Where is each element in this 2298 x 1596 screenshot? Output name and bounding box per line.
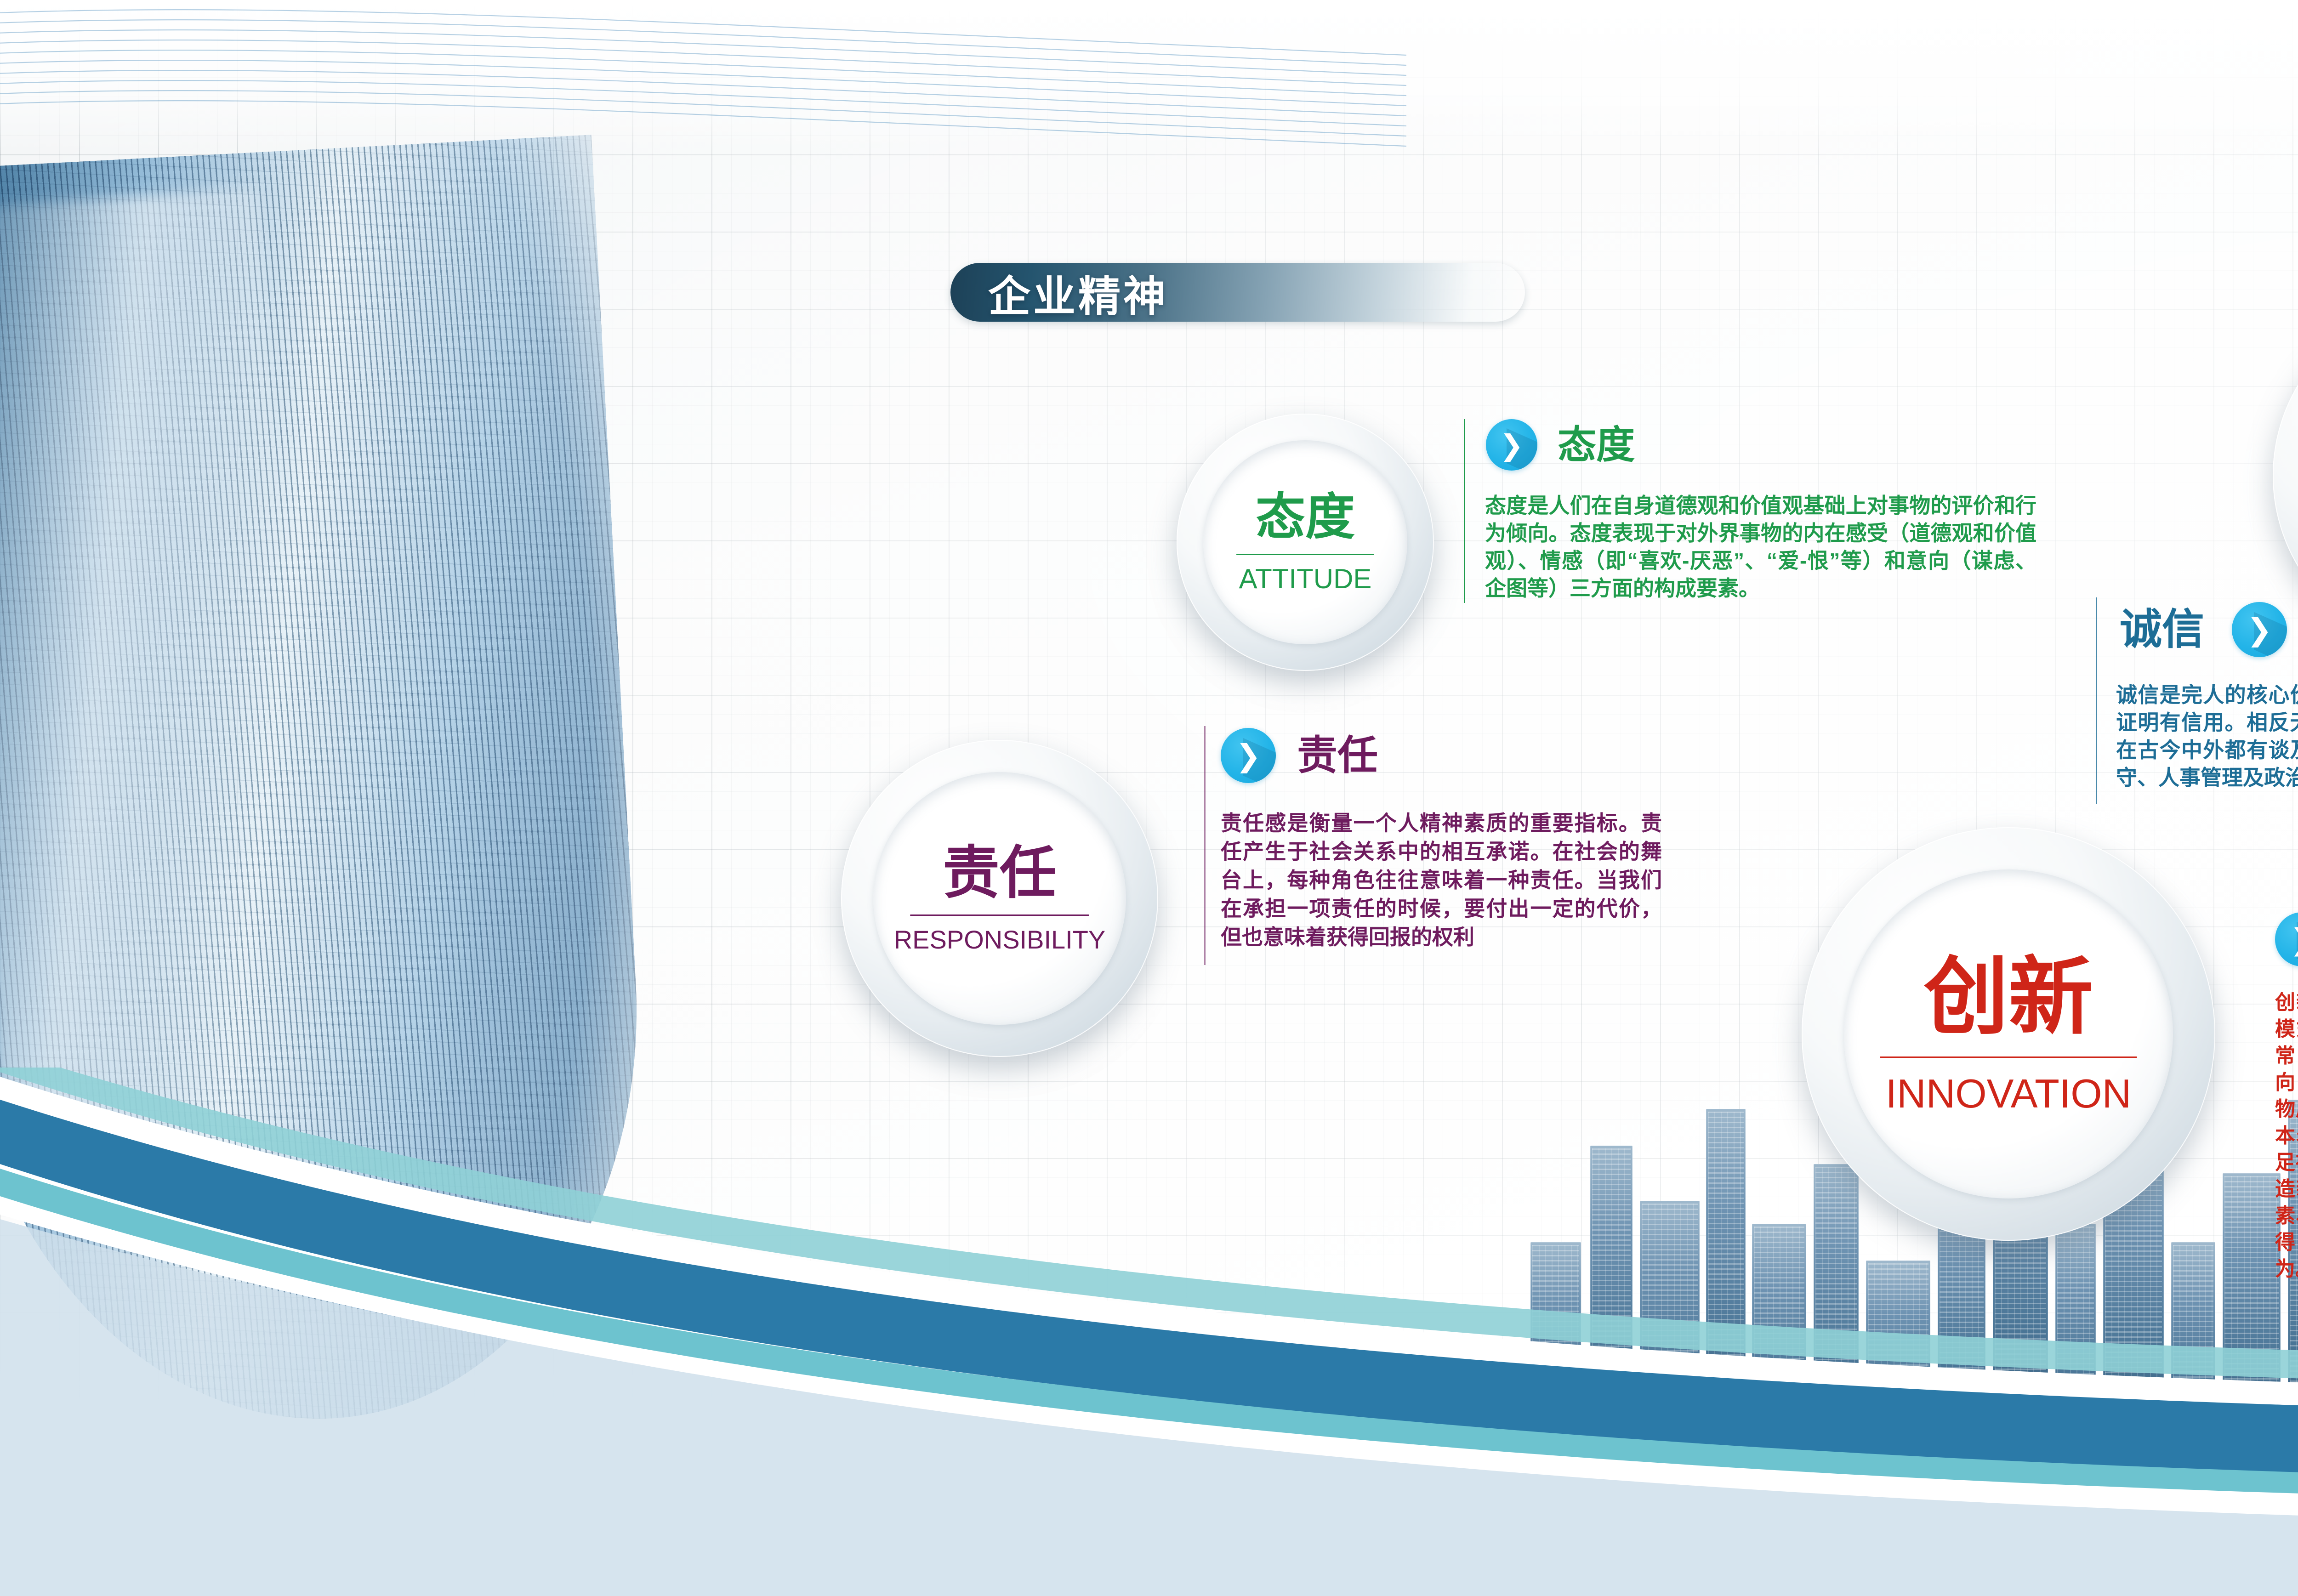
block-innovation-head: ❯ 创新 [2275, 912, 2298, 966]
block-integrity-body: 诚信是完人的核心价值，承诺思想行动一致，客观证明有信用。相反无诚信者是伪君子。有… [2116, 681, 2298, 791]
badge-innovation-zh: 创新 [1924, 954, 2093, 1039]
badge-responsibility[interactable]: 责任 RESPONSIBILITY [841, 740, 1158, 1057]
block-integrity: 诚信 ❯ 诚信是完人的核心价值，承诺思想行动一致，客观证明有信用。相反无诚信者是… [2096, 597, 2298, 818]
badge-attitude-zh: 态度 [1256, 492, 1355, 542]
chevron-right-icon[interactable]: ❯ [2232, 602, 2287, 657]
contour-lines-decoration [0, 0, 1406, 147]
badge-innovation-en: INNOVATION [1886, 1073, 2132, 1114]
chevron-right-icon[interactable]: ❯ [1486, 419, 1537, 471]
block-innovation-body: 创新是指以现有的思维模式提出有别于常规或常人思路的见解为导向，利用现有的知识和物… [2275, 989, 2298, 1283]
badge-responsibility-zh: 责任 [943, 845, 1057, 902]
block-responsibility-head: ❯ 责任 [1221, 728, 1378, 783]
chevron-right-icon[interactable]: ❯ [1221, 728, 1276, 783]
block-integrity-divider [2096, 597, 2097, 804]
badge-attitude[interactable]: 态度 ATTITUDE [1177, 414, 1434, 671]
block-attitude-body: 态度是人们在自身道德观和价值观基础上对事物的评价和行为倾向。态度表现于对外界事物… [1485, 492, 2036, 602]
block-responsibility-divider [1204, 726, 1206, 965]
culture-wall-canvas: 态度 ATTITUDE 责任 RESPONSIBILITY 诚信 INTEGRI… [0, 0, 2298, 1596]
block-innovation: ❯ 创新 创新是指以现有的思维模式提出有别于常规或常人思路的见解为导向，利用现有… [2266, 912, 2298, 1275]
badge-innovation[interactable]: 创新 INNOVATION [1802, 827, 2215, 1241]
badge-attitude-rule [1236, 554, 1374, 555]
block-attitude-divider [1464, 419, 1465, 603]
page-title: 企业精神 [988, 264, 1310, 321]
block-responsibility-heading: 责任 [1297, 735, 1378, 776]
block-responsibility: ❯ 责任 责任感是衡量一个人精神素质的重要指标。责任产生于社会关系中的相互承诺。… [1204, 726, 1746, 983]
badge-innovation-rule [1880, 1056, 2137, 1058]
block-attitude: ❯ 态度 态度是人们在自身道德观和价值观基础上对事物的评价和行为倾向。态度表现于… [1464, 419, 2048, 612]
block-attitude-heading: 态度 [1558, 426, 1635, 464]
badge-attitude-en: ATTITUDE [1239, 565, 1372, 593]
badge-responsibility-en: RESPONSIBILITY [894, 927, 1106, 953]
block-integrity-head: 诚信 ❯ [2120, 602, 2287, 657]
chevron-right-icon[interactable]: ❯ [2275, 912, 2298, 966]
block-attitude-head: ❯ 态度 [1486, 419, 1635, 471]
block-responsibility-body: 责任感是衡量一个人精神素质的重要指标。责任产生于社会关系中的相互承诺。在社会的舞… [1221, 809, 1662, 951]
badge-responsibility-rule [910, 914, 1089, 916]
block-integrity-heading: 诚信 [2120, 608, 2204, 651]
